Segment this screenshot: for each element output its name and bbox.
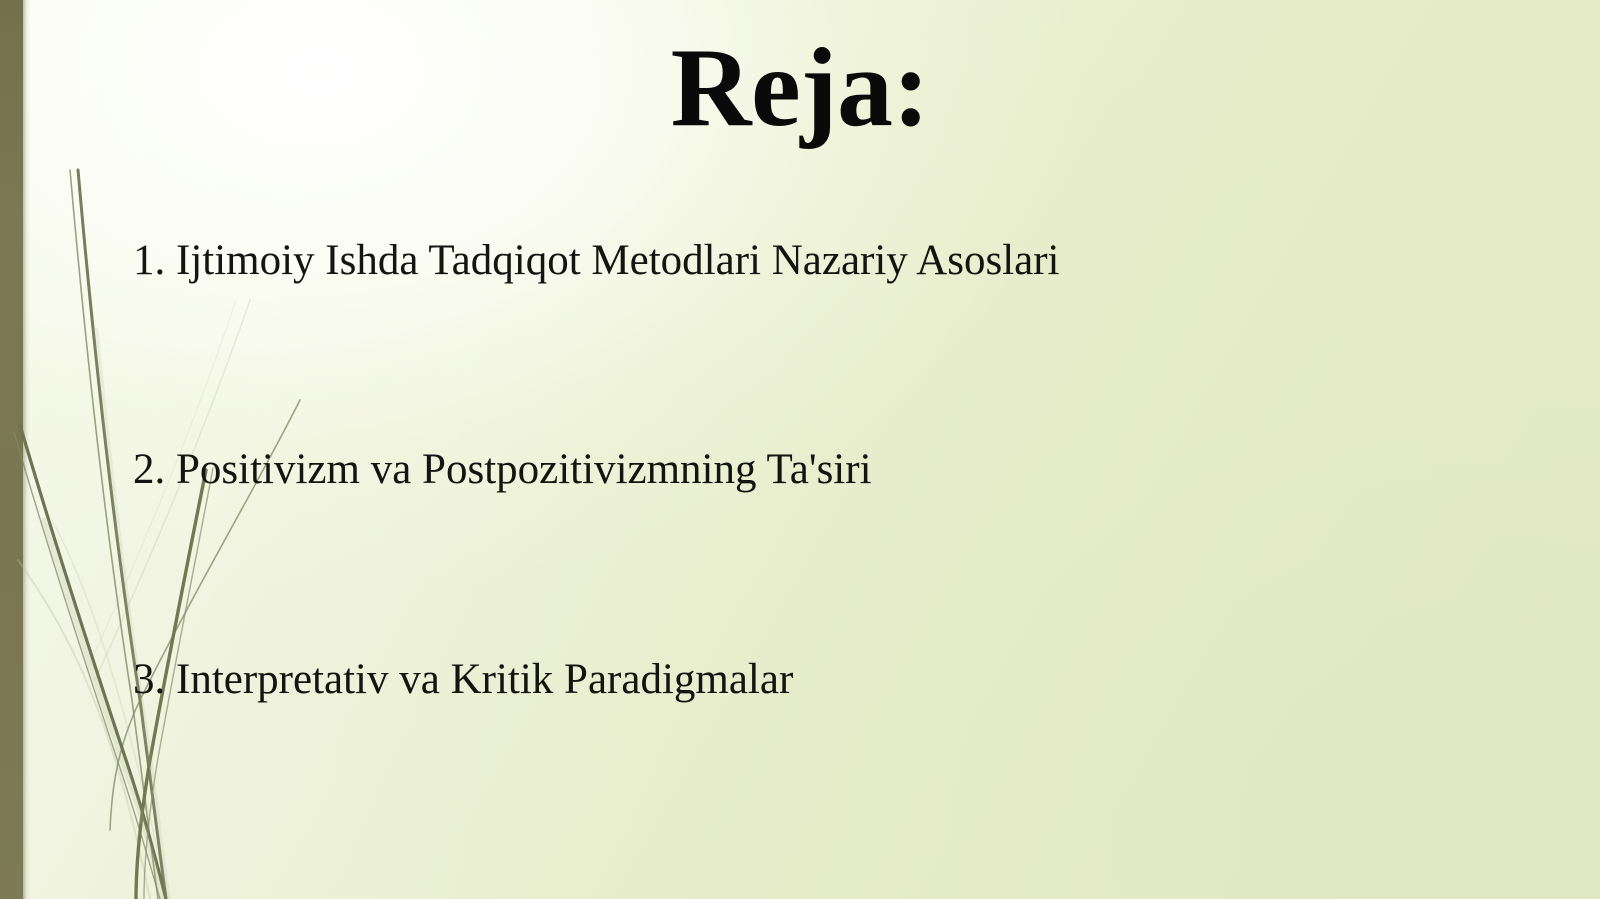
page-title: Reja: bbox=[0, 30, 1600, 148]
list-item: 1. Ijtimoiy Ishda Tadqiqot Metodlari Naz… bbox=[133, 236, 1510, 285]
outline-list: 1. Ijtimoiy Ishda Tadqiqot Metodlari Naz… bbox=[133, 236, 1510, 704]
list-item: 2. Positivizm va Postpozitivizmning Ta's… bbox=[133, 445, 1510, 494]
slide: Reja: 1. Ijtimoiy Ishda Tadqiqot Metodla… bbox=[0, 0, 1600, 899]
list-item: 3. Interpretativ va Kritik Paradigmalar bbox=[133, 655, 1510, 704]
